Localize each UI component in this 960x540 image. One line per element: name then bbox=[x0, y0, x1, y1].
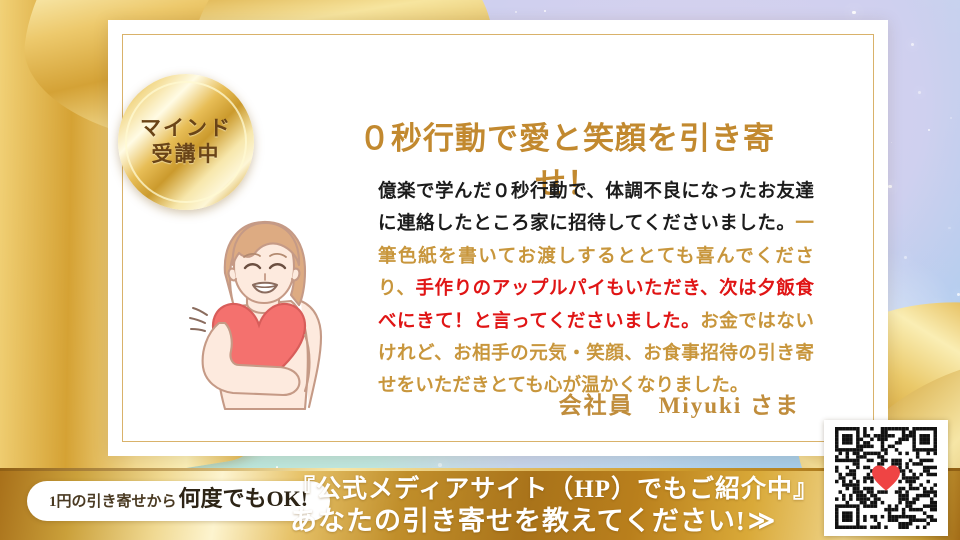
promo-banner-canvas: マインド 受講中 ０秒行動で愛と笑顔を引き寄せ！ 億楽で学んだ０秒行動で、体調不… bbox=[0, 0, 960, 540]
double-chevron-right-icon: ≫ bbox=[748, 505, 771, 537]
banner-line-2-row: あなたの引き寄せを教えてください! ≫ bbox=[290, 505, 820, 537]
heart-icon bbox=[871, 465, 901, 492]
badge-text: マインド 受講中 bbox=[140, 116, 232, 167]
banner-line-1: 『公式メディアサイト（HP）でもご紹介中』 bbox=[290, 475, 820, 505]
bottom-cta-banner[interactable]: 1円の引き寄せから 何度でもOK! 『公式メディアサイト（HP）でもご紹介中』 … bbox=[0, 468, 960, 540]
pill-small-text: 1円の引き寄せから bbox=[49, 490, 177, 511]
badge-line-2: 受講中 bbox=[140, 142, 232, 168]
qr-code-matrix bbox=[831, 427, 941, 529]
qr-code-icon[interactable] bbox=[824, 420, 948, 536]
price-pill-badge: 1円の引き寄せから 何度でもOK! bbox=[27, 481, 330, 521]
testimonial-segment-black: 億楽で学んだ０秒行動で、体調不良になったお友達に連絡したところ家に招待してくださ… bbox=[378, 182, 814, 234]
pill-big-text: 何度でもOK! bbox=[179, 481, 309, 513]
banner-text-block: 『公式メディアサイト（HP）でもご紹介中』 あなたの引き寄せを教えてください! … bbox=[290, 475, 820, 537]
mind-course-badge: マインド 受講中 bbox=[118, 74, 254, 210]
testimonial-body: 億楽で学んだ０秒行動で、体調不良になったお友達に連絡したところ家に招待してくださ… bbox=[378, 176, 814, 403]
banner-top-edge bbox=[0, 468, 960, 471]
testimonial-signature: 会社員 Miyuki さま bbox=[470, 386, 800, 420]
woman-hugging-heart-illustration bbox=[155, 195, 370, 410]
banner-line-2: あなたの引き寄せを教えてください! bbox=[290, 505, 746, 537]
badge-line-1: マインド bbox=[140, 116, 232, 142]
